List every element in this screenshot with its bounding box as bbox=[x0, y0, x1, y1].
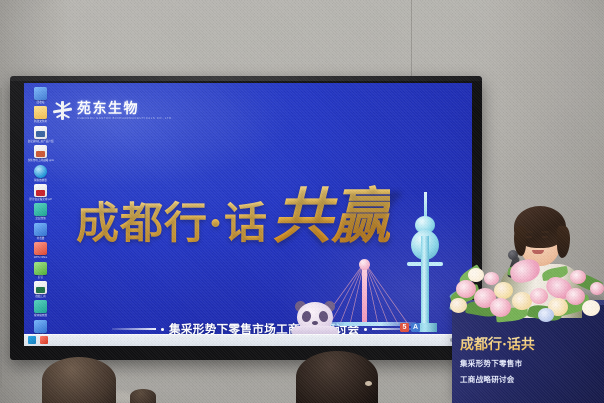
desktop-icon[interactable]: 零售市场工商战略.pptx bbox=[27, 145, 54, 162]
desktop-icon-label: 会议资料汇总产品介绍 bbox=[28, 139, 54, 143]
wechat-work-icon bbox=[34, 203, 47, 216]
desktop-icon-label: 企业微信 bbox=[28, 217, 54, 221]
presentation-display: 苑东生物 CHENGDU EASTON BIOPHARMACEUTICALS C… bbox=[10, 76, 482, 360]
illustration-badges: 5 A bbox=[400, 323, 420, 332]
desktop-icon-label: 回收站 bbox=[28, 101, 54, 105]
desktop-icon-label: 销售数据表 bbox=[28, 178, 54, 182]
desktop-icon-label: 零售市场工商战略.pptx bbox=[28, 159, 54, 163]
windows-taskbar[interactable] bbox=[24, 334, 472, 346]
desktop-icon-label: 新建文件夹 bbox=[28, 120, 54, 124]
subtitle-dot-left-icon bbox=[161, 328, 164, 331]
wall-panel-seam bbox=[411, 0, 412, 88]
badge-blue: A bbox=[411, 323, 420, 332]
audience-head bbox=[296, 351, 378, 403]
desktop-icon[interactable]: 钉钉 bbox=[27, 262, 54, 279]
folder-icon bbox=[34, 106, 47, 119]
desktop-icon-label: WPS Office bbox=[28, 256, 54, 260]
podium-subtitle-line1: 集采形势下零售市 bbox=[460, 358, 600, 370]
display-screen[interactable]: 苑东生物 CHENGDU EASTON BIOPHARMACEUTICALS C… bbox=[24, 83, 472, 346]
desktop-icon-column: 回收站 新建文件夹 会议资料汇总产品介绍 零售市场工商战略.pptx 销售数据表 bbox=[27, 87, 54, 337]
audience-head bbox=[130, 389, 156, 403]
excel-document-icon bbox=[34, 281, 47, 294]
asterisk-logo-mark-icon bbox=[53, 101, 72, 120]
badge-red: 5 bbox=[400, 323, 409, 332]
dingtalk-icon bbox=[34, 223, 47, 236]
powerpoint-document-icon bbox=[34, 145, 47, 158]
desktop-icon-label: 媒体播放器 bbox=[28, 314, 54, 318]
desktop-icon[interactable]: 截图工具 bbox=[27, 281, 54, 298]
slide-illustration: 5 A bbox=[292, 181, 472, 346]
recycle-bin-icon bbox=[34, 87, 47, 100]
desktop-icon[interactable]: 回收站 bbox=[27, 87, 54, 104]
desktop-icon[interactable]: 研讨会议程安排.pdf bbox=[27, 184, 54, 201]
brand-name-en: CHENGDU EASTON BIOPHARMACEUTICALS CO.,LT… bbox=[77, 117, 173, 120]
podium-branding: 成都行·话共 集采形势下零售市 工商战略研讨会 bbox=[460, 334, 600, 386]
screenshot-tool-icon bbox=[34, 262, 47, 275]
wps-taskbar-icon[interactable] bbox=[40, 336, 48, 344]
wps-office-icon bbox=[34, 242, 47, 255]
bezel-highlight bbox=[10, 76, 482, 81]
podium-title: 成都行·话共 bbox=[460, 334, 600, 354]
desktop-icon-label: 浏览器 bbox=[28, 237, 54, 241]
pdf-document-icon bbox=[34, 184, 47, 197]
this-pc-icon bbox=[34, 320, 47, 333]
desktop-icon[interactable]: 新建文件夹 bbox=[27, 106, 54, 123]
brand-name-cn: 苑东生物 bbox=[77, 101, 173, 115]
desktop-icon-label: 钉钉 bbox=[28, 275, 54, 279]
start-button-icon[interactable] bbox=[28, 336, 36, 344]
desktop-icon-label: 截图工具 bbox=[28, 295, 54, 299]
word-document-icon bbox=[34, 126, 47, 139]
podium-subtitle-line2: 工商战略研讨会 bbox=[460, 374, 600, 386]
screenshot-root: 苑东生物 CHENGDU EASTON BIOPHARMACEUTICALS C… bbox=[0, 0, 604, 403]
desktop-icon[interactable]: 企业微信 bbox=[27, 203, 54, 220]
desktop-icon[interactable]: 会议资料汇总产品介绍 bbox=[27, 126, 54, 143]
subtitle-rule-left bbox=[112, 328, 156, 330]
panda-mascot-icon bbox=[292, 302, 338, 336]
slide-title-prefix: 成都行·话 bbox=[76, 189, 268, 251]
desktop-icon[interactable]: 媒体播放器 bbox=[27, 300, 54, 317]
podium-floral-arrangement bbox=[450, 258, 604, 328]
browser-icon bbox=[34, 165, 47, 178]
media-player-icon bbox=[34, 300, 47, 313]
desktop-icon[interactable]: 浏览器 bbox=[27, 223, 54, 240]
desktop-icon[interactable]: WPS Office bbox=[27, 242, 54, 259]
desktop-icon-label: 研讨会议程安排.pdf bbox=[28, 198, 54, 202]
brand-logo: 苑东生物 CHENGDU EASTON BIOPHARMACEUTICALS C… bbox=[53, 101, 173, 120]
desktop-icon[interactable]: 销售数据表 bbox=[27, 165, 54, 182]
audience-head bbox=[42, 357, 116, 403]
